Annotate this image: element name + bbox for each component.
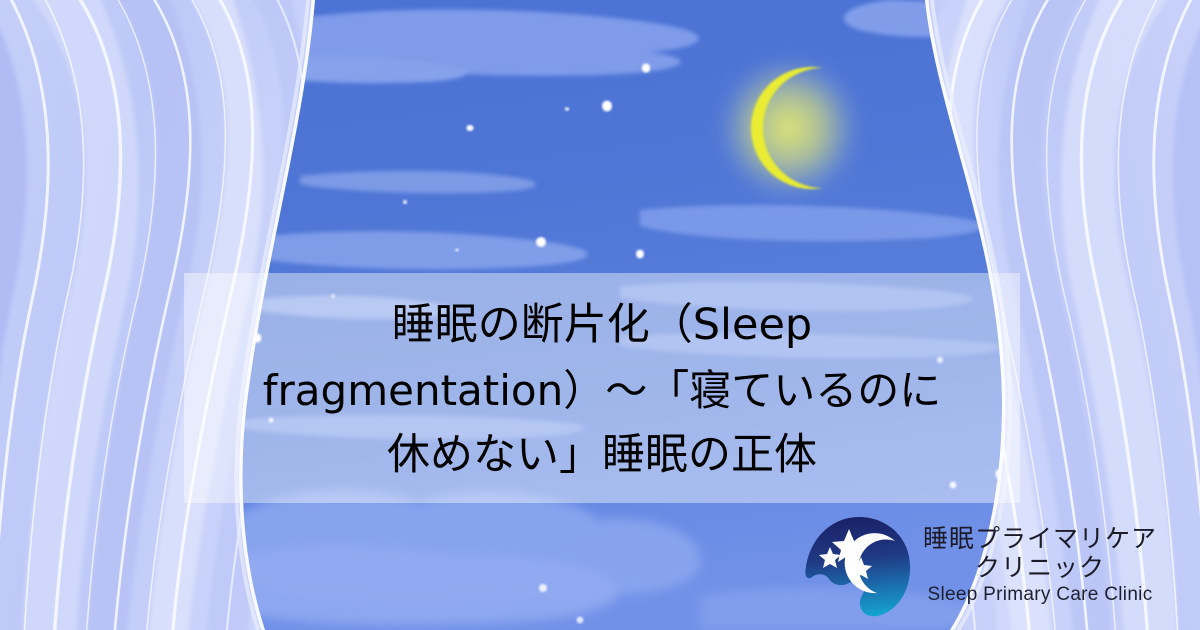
title-line-2: fragmentation）〜「寝ているのに	[263, 358, 941, 423]
logo-text-block: 睡眠プライマリケア クリニック Sleep Primary Care Clini…	[923, 524, 1157, 611]
title-line-1: 睡眠の断片化（Sleep	[392, 293, 812, 358]
sleeping-head-with-moon-and-stars-icon	[803, 513, 915, 621]
logo-en-line: Sleep Primary Care Clinic	[928, 583, 1153, 607]
logo-jp-line-2: クリニック	[975, 553, 1105, 582]
banner-image: 睡眠の断片化（Sleep fragmentation）〜「寝ているのに 休めない…	[0, 0, 1200, 630]
title-line-3: 休めない」睡眠の正体	[387, 423, 817, 488]
title-overlay: 睡眠の断片化（Sleep fragmentation）〜「寝ているのに 休めない…	[184, 273, 1020, 503]
logo-jp-line-1: 睡眠プライマリケア	[923, 524, 1157, 553]
clinic-logo: 睡眠プライマリケア クリニック Sleep Primary Care Clini…	[803, 512, 1193, 622]
crescent-moon-icon	[717, 56, 861, 200]
